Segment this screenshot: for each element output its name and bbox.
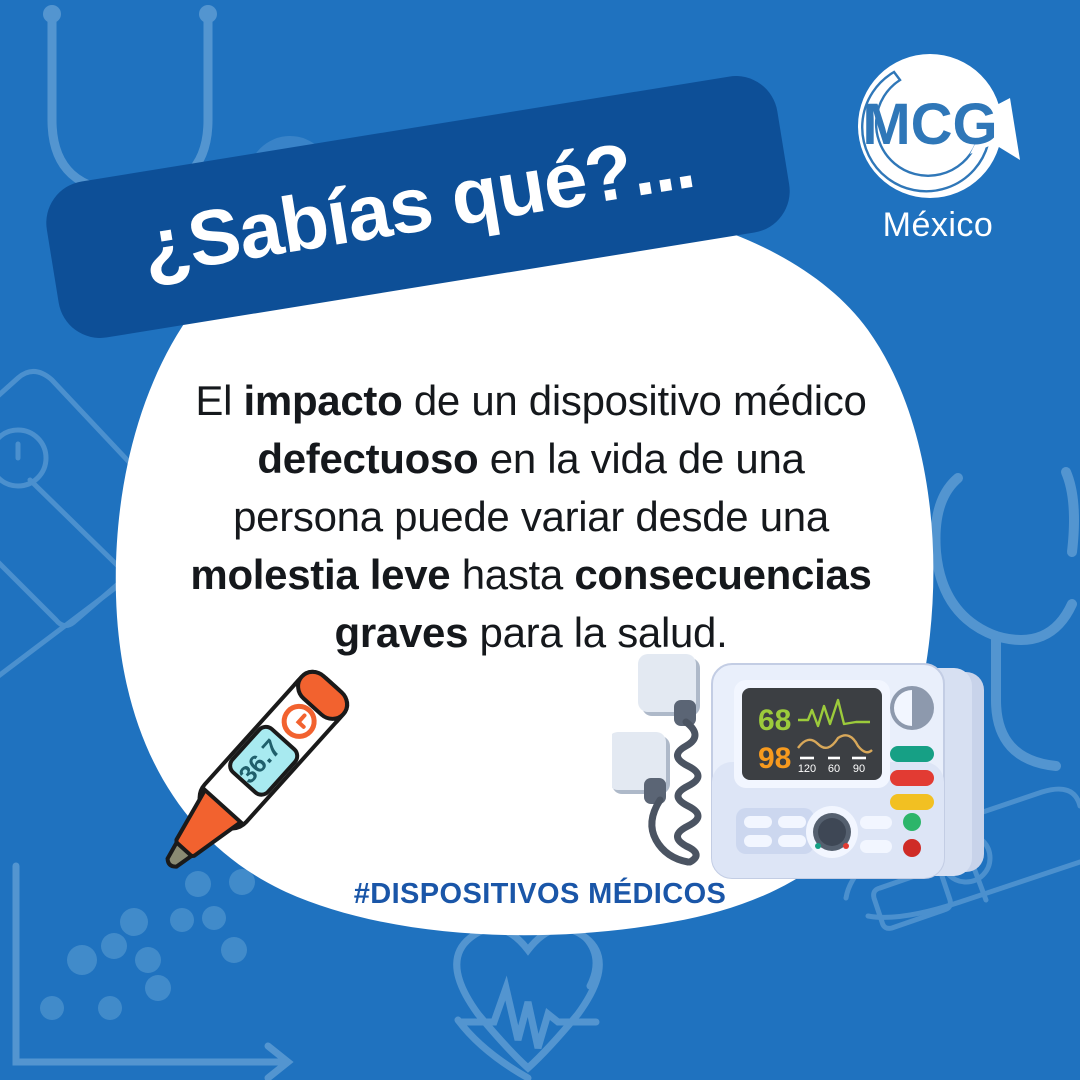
brand-logo[interactable]: MCG México [838,48,1038,258]
logo-country-label: México [838,206,1038,245]
monitor-param-1: 60 [828,763,840,775]
monitor-param-2: 90 [853,763,865,775]
body-emphasis-5: molestia leve [190,551,450,598]
monitor-spo2: 98 [758,742,791,775]
body-run-6: hasta [450,551,574,598]
thermometer-illustration: 36.7 [120,645,380,895]
body-run-0: El [195,377,243,424]
body-text: El impacto de un dispositivo médico defe… [178,372,884,662]
monitor-heart-rate: 68 [758,704,791,737]
body-emphasis-3: defectuoso [257,435,478,482]
defibrillator-monitor-illustration: 68 98 120 60 90 [612,650,1004,902]
logo-mcg-text: MCG [862,92,997,157]
monitor-param-0: 120 [798,763,816,775]
body-emphasis-1: impacto [244,377,403,424]
hashtag-label: #DISPOSITIVOS MÉDICOS [0,878,1080,911]
logo-mark-icon: MCG [838,48,1038,208]
body-run-2: de un dispositivo médico [402,377,866,424]
body-run-8: para la salud. [468,609,727,656]
poster-canvas: ¿Sabías qué?... MCG México El impacto de… [0,0,1080,1080]
